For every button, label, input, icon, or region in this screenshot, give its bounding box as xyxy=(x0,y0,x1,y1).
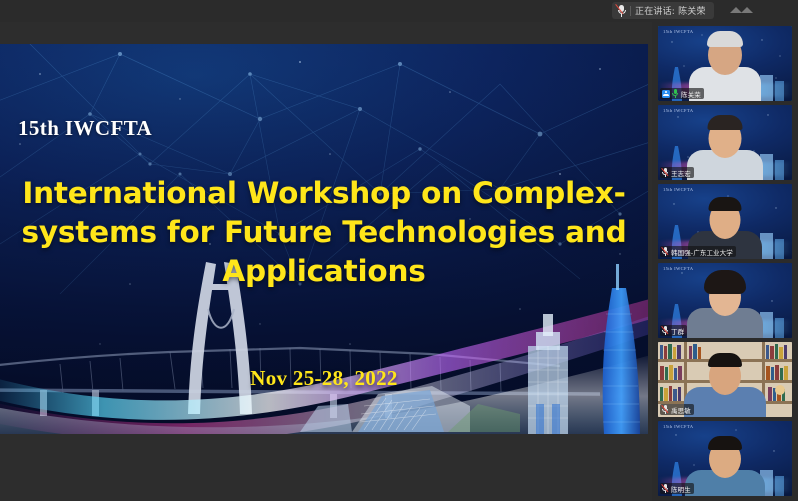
tile-watermark: 15th IWCFTA xyxy=(663,108,693,113)
audio-wave-icon xyxy=(730,5,756,16)
participant-tile[interactable]: 15th IWCFTA 陈明生 xyxy=(658,421,792,496)
participant-video-rail[interactable]: 15th IWCFTA 陈关荣 xyxy=(652,22,798,501)
slide-date-text: Nov 25-28, 2022 xyxy=(0,366,648,391)
active-speaker-indicator: 正在讲话: 陈关荣 xyxy=(612,2,714,19)
top-status-bar: 正在讲话: 陈关荣 xyxy=(0,0,798,22)
participant-tile[interactable]: 15th IWCFTA 韩国强-广东工业大学 xyxy=(658,184,792,259)
participant-name-badge: 韩国强-广东工业大学 xyxy=(660,246,736,257)
mic-muted-icon xyxy=(662,247,669,256)
participant-name-badge: 丁群 xyxy=(660,325,687,336)
participant-name: 丁群 xyxy=(671,326,684,336)
speaking-label: 正在讲话: 陈关荣 xyxy=(635,4,706,17)
divider xyxy=(630,6,631,16)
presentation-slide: 15th IWCFTA International Workshop on Co… xyxy=(0,44,648,434)
participant-name-badge: 禹思敏 xyxy=(660,404,694,415)
tile-watermark: 15th IWCFTA xyxy=(663,29,693,34)
shared-screen-stage: 15th IWCFTA International Workshop on Co… xyxy=(0,22,648,479)
slide-kicker-text: 15th IWCFTA xyxy=(18,116,152,141)
tile-watermark: 15th IWCFTA xyxy=(663,187,693,192)
mic-muted-icon xyxy=(617,5,626,17)
mic-muted-icon xyxy=(662,405,669,414)
mic-muted-icon xyxy=(662,326,669,335)
participant-name: 陈关荣 xyxy=(681,89,701,99)
mic-on-icon xyxy=(672,89,679,98)
participant-tile[interactable]: 禹思敏 xyxy=(658,342,792,417)
tile-watermark: 15th IWCFTA xyxy=(663,266,693,271)
participant-name-badge: 陈关荣 xyxy=(660,88,704,99)
meeting-window: 正在讲话: 陈关荣 xyxy=(0,0,798,501)
participant-tile[interactable]: 15th IWCFTA 陈关荣 xyxy=(658,26,792,101)
participant-tile[interactable]: 15th IWCFTA 王志宏 xyxy=(658,105,792,180)
participant-name: 王志宏 xyxy=(671,168,691,178)
participant-name-badge: 陈明生 xyxy=(660,483,694,494)
participant-name: 陈明生 xyxy=(671,484,691,494)
mic-muted-icon xyxy=(662,168,669,177)
avatar-icon xyxy=(662,90,670,98)
participant-name-badge: 王志宏 xyxy=(660,167,694,178)
mic-muted-icon xyxy=(662,484,669,493)
slide-title-text: International Workshop on Complex-system… xyxy=(16,174,632,292)
participant-name: 韩国强-广东工业大学 xyxy=(671,247,733,257)
participant-tile[interactable]: 15th IWCFTA 丁群 xyxy=(658,263,792,338)
tile-watermark: 15th IWCFTA xyxy=(663,424,693,429)
participant-name: 禹思敏 xyxy=(671,405,691,415)
